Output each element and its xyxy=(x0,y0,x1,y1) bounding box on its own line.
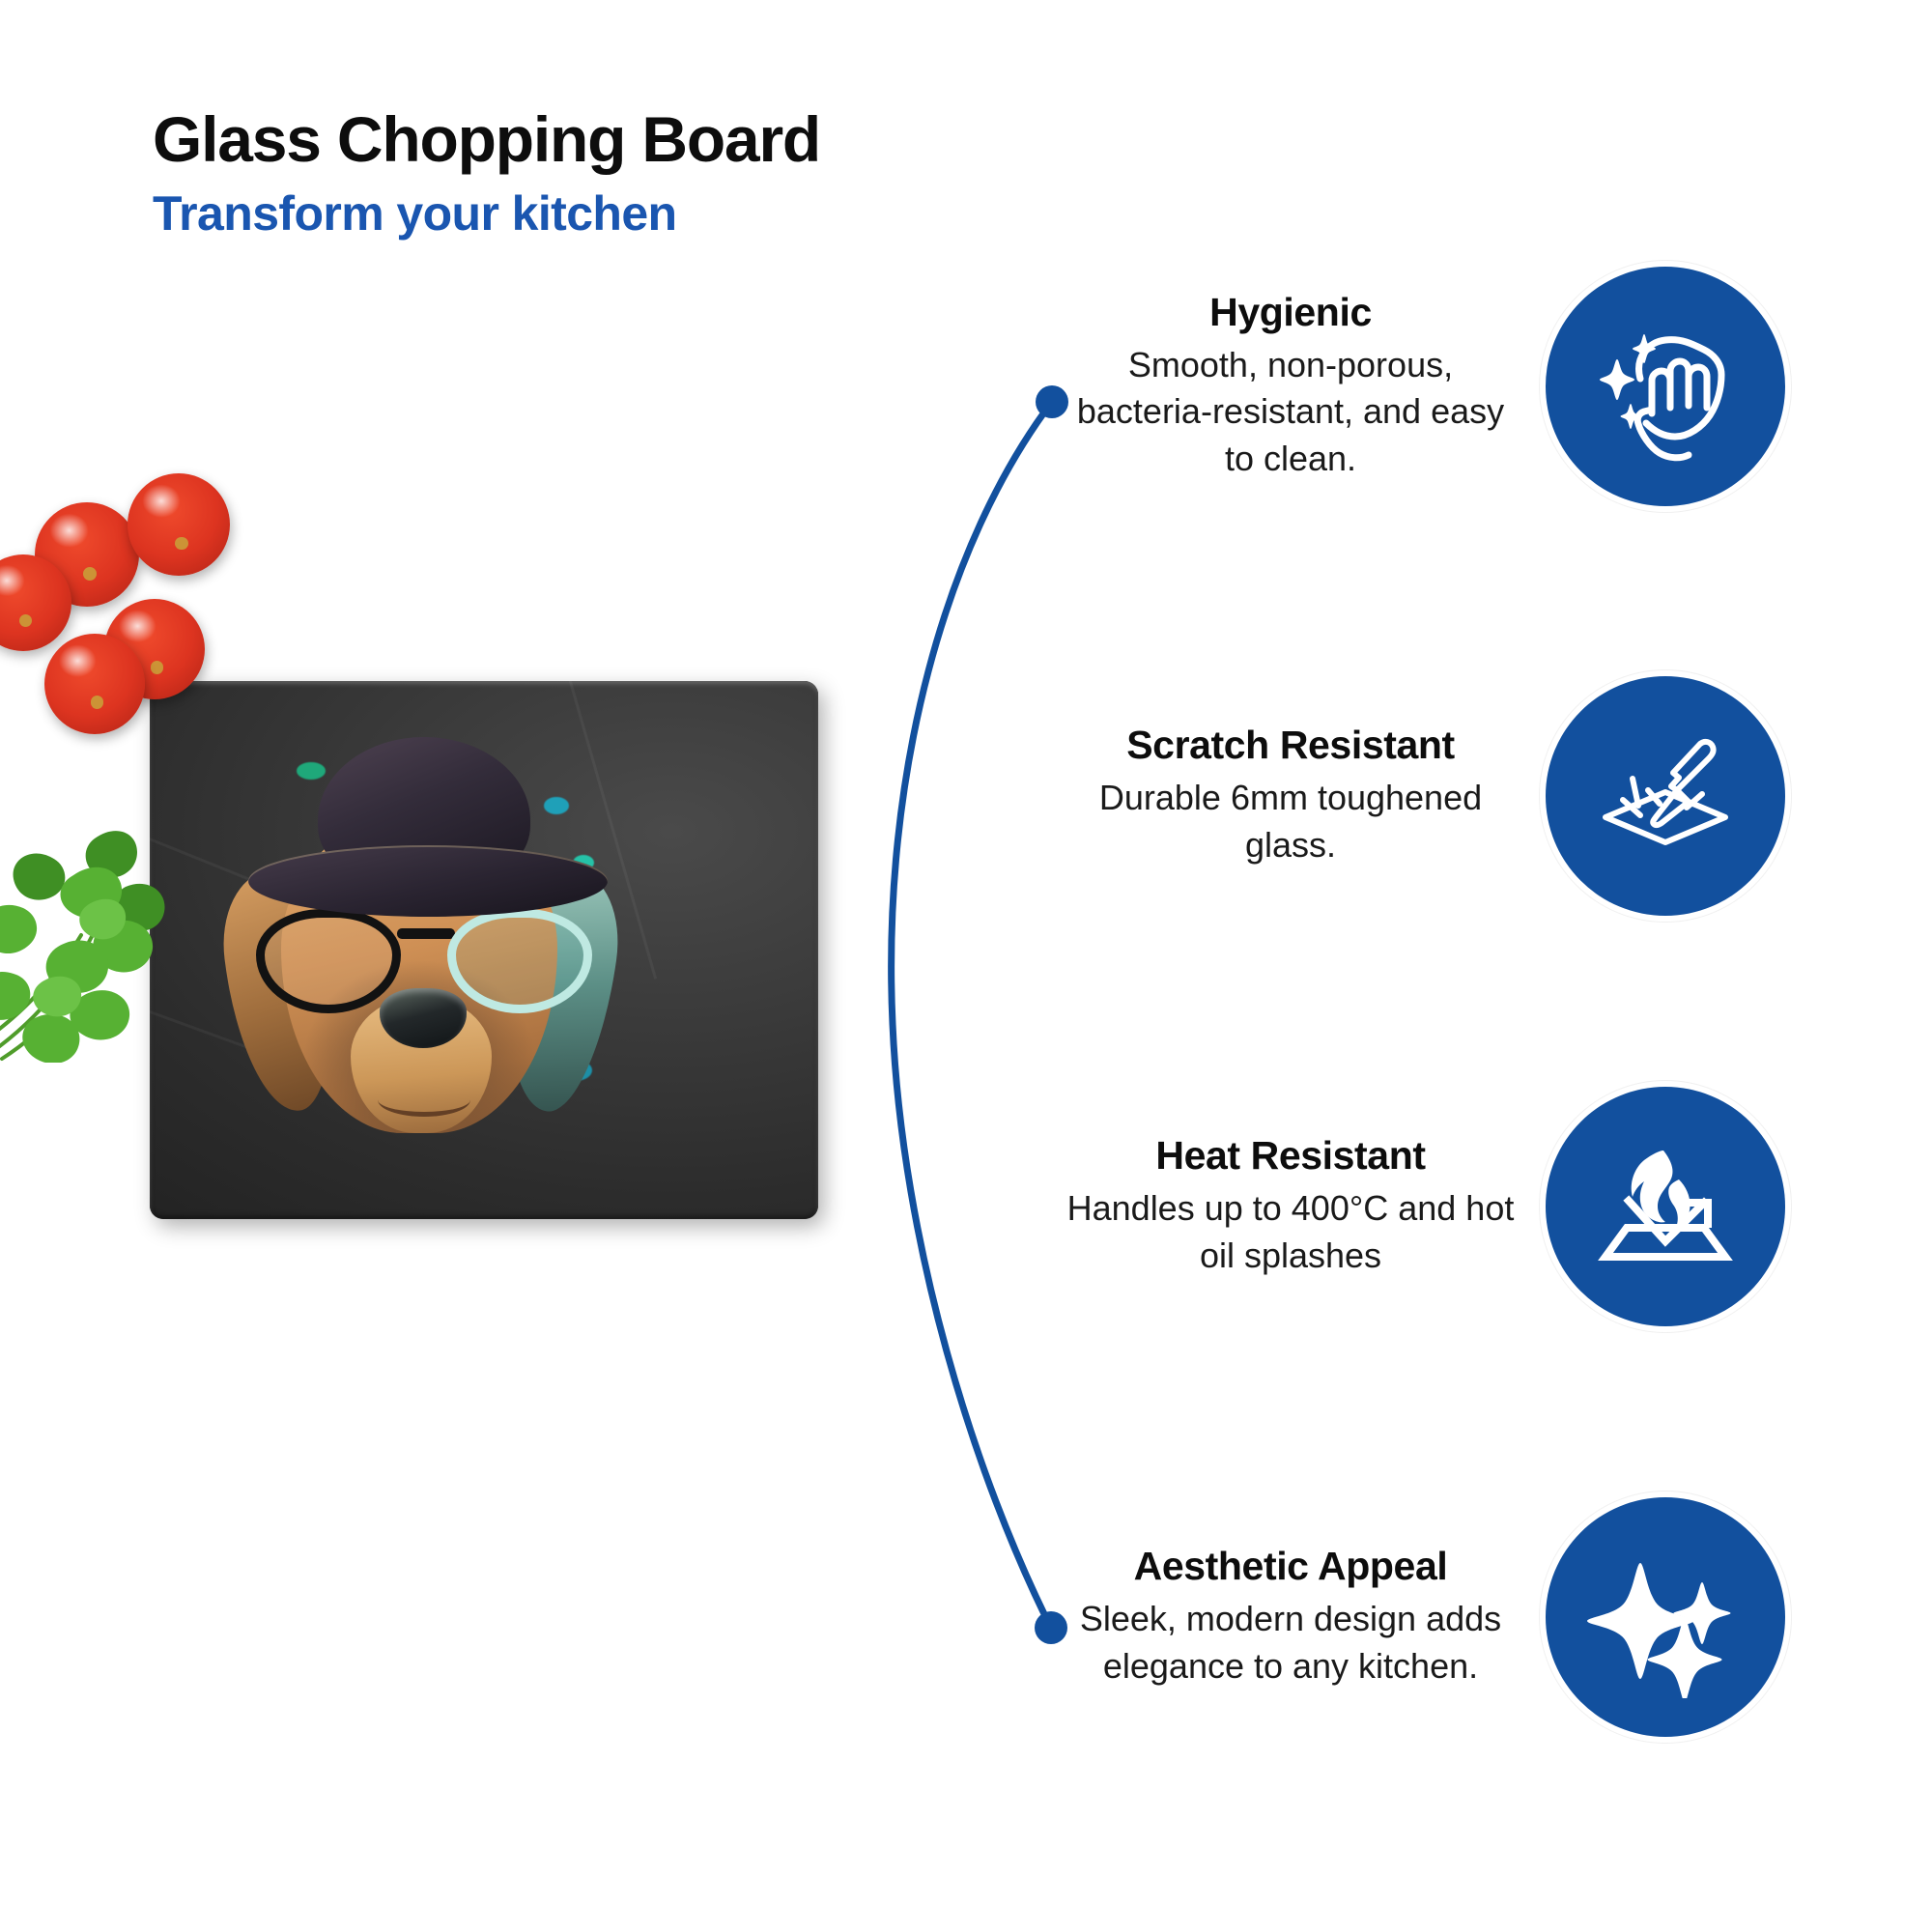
glasses-lens-left xyxy=(256,909,401,1013)
cherry-tomato xyxy=(44,634,145,734)
header: Glass Chopping Board Transform your kitc… xyxy=(153,106,1119,241)
sparkles-icon xyxy=(1546,1497,1785,1737)
feature-text: Aesthetic Appeal Sleek, modern design ad… xyxy=(1063,1545,1546,1690)
glasses-bridge xyxy=(397,928,455,939)
hat-brim xyxy=(248,845,608,917)
product-image-chopping-board xyxy=(150,681,818,1219)
feature-heat-resistant: Heat Resistant Handles up to 400°C and h… xyxy=(1063,1087,1874,1326)
dog-hat xyxy=(248,737,608,921)
dog-artwork xyxy=(188,681,729,1219)
parsley-sprigs xyxy=(0,811,203,1063)
feature-description: Handles up to 400°C and hot oil splashes xyxy=(1063,1185,1519,1278)
knife-scratch-surface-icon xyxy=(1546,676,1785,916)
feature-text: Scratch Resistant Durable 6mm toughened … xyxy=(1063,724,1546,868)
flame-deflect-surface-icon xyxy=(1546,1087,1785,1326)
page-subtitle: Transform your kitchen xyxy=(153,187,1119,241)
page-title: Glass Chopping Board xyxy=(153,106,1119,174)
feature-title: Hygienic xyxy=(1063,291,1519,334)
cherry-tomato xyxy=(128,473,230,576)
hand-wiping-cloth-sparkle-icon xyxy=(1546,267,1785,506)
glasses-lens-right xyxy=(447,909,592,1013)
feature-description: Sleek, modern design adds elegance to an… xyxy=(1063,1596,1519,1689)
feature-description: Durable 6mm toughened glass. xyxy=(1063,775,1519,867)
dog-mouth xyxy=(378,1083,470,1117)
feature-aesthetic-appeal: Aesthetic Appeal Sleek, modern design ad… xyxy=(1063,1497,1874,1737)
dog-glasses xyxy=(256,909,592,1017)
feature-title: Heat Resistant xyxy=(1063,1134,1519,1178)
feature-text: Heat Resistant Handles up to 400°C and h… xyxy=(1063,1134,1546,1279)
feature-scratch-resistant: Scratch Resistant Durable 6mm toughened … xyxy=(1063,676,1874,916)
feature-hygienic: Hygienic Smooth, non-porous, bacteria-re… xyxy=(1063,267,1874,506)
feature-title: Aesthetic Appeal xyxy=(1063,1545,1519,1588)
feature-description: Smooth, non-porous, bacteria-resistant, … xyxy=(1063,342,1519,482)
product-composition xyxy=(0,580,869,1333)
feature-text: Hygienic Smooth, non-porous, bacteria-re… xyxy=(1063,291,1546,482)
feature-title: Scratch Resistant xyxy=(1063,724,1519,767)
